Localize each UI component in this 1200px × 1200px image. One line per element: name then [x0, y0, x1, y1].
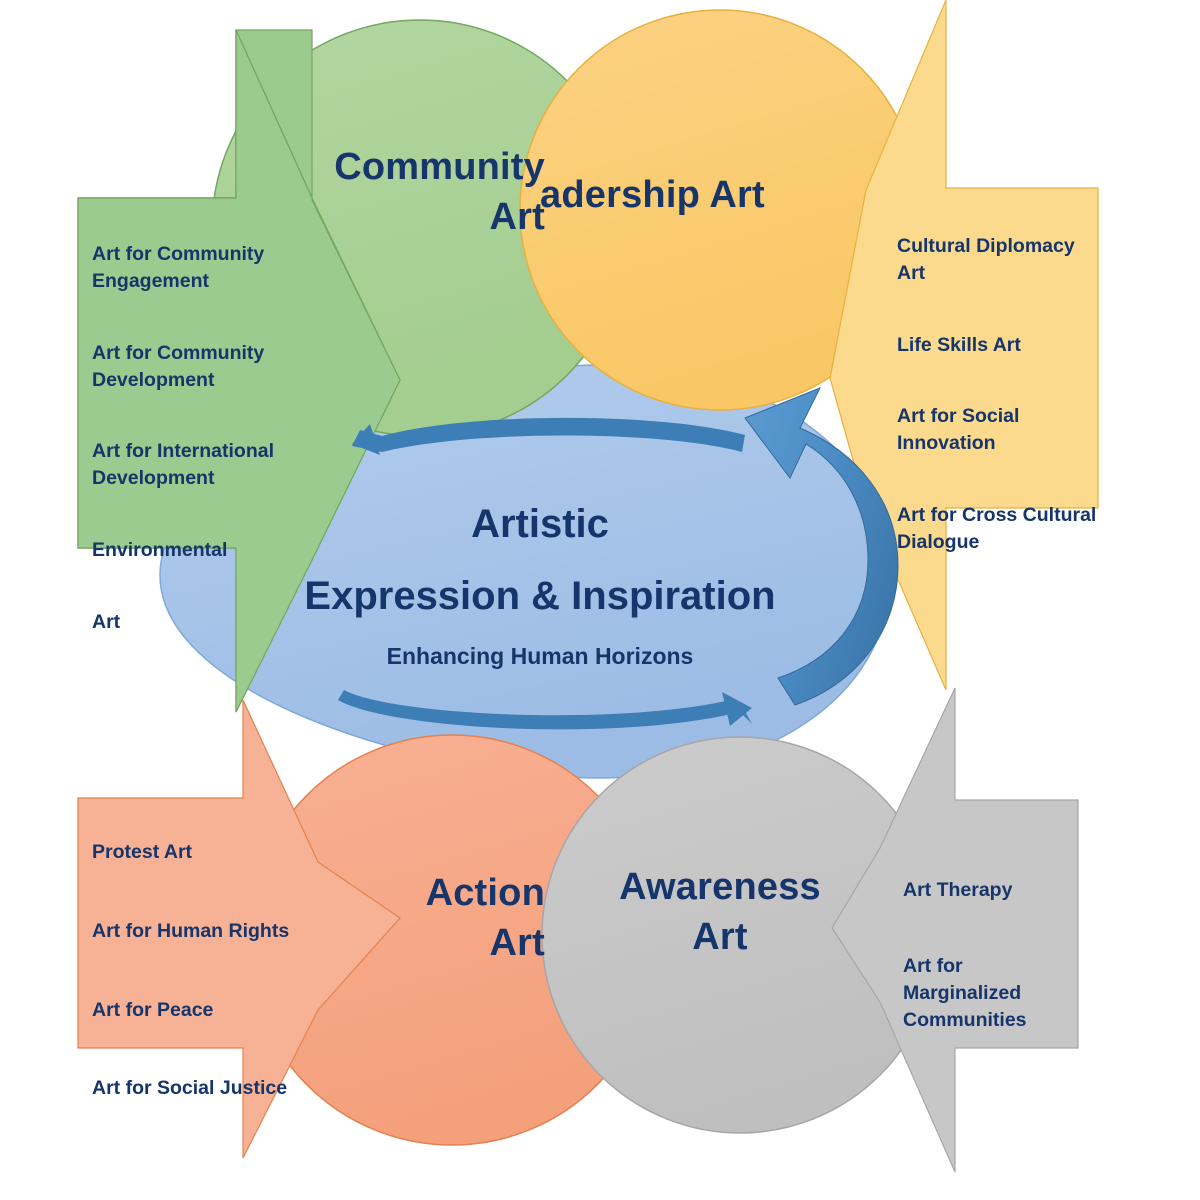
list-item: Art for Community Engagement [92, 241, 307, 295]
list-item: Protest Art [92, 839, 342, 866]
circle-label-action: Action Art [330, 868, 545, 968]
center-title-line-1: Artistic [350, 498, 730, 551]
list-item: Art for Human Rights [92, 918, 342, 945]
center-title-line-2: Expression & Inspiration [240, 570, 840, 623]
callout-list-leadership: Cultural Diplomacy Art Life Skills Art A… [897, 206, 1097, 583]
list-item: Environmental [92, 537, 307, 564]
callout-list-awareness: Art Therapy Art for Marginalized Communi… [903, 850, 1083, 1082]
list-item: Art for Social Justice [92, 1075, 342, 1102]
callout-list-community: Art for Community Engagement Art for Com… [92, 214, 307, 663]
center-subtitle: Enhancing Human Horizons [300, 641, 780, 671]
list-item: Art for Cross Cultural Dialogue [897, 502, 1097, 556]
list-item: Art for Community Development [92, 340, 307, 394]
list-item: Art for Marginalized Communities [903, 953, 1083, 1034]
list-item: Art Therapy [903, 877, 1083, 904]
list-item: Cultural Diplomacy Art [897, 233, 1097, 287]
list-item: Art for Social Innovation [897, 403, 1097, 457]
circle-label-leadership: adership Art [540, 170, 860, 220]
callout-list-action: Protest Art Art for Human Rights Art for… [92, 812, 342, 1154]
list-item: Life Skills Art [897, 332, 1097, 359]
list-item: Art [92, 609, 307, 636]
list-item: Art for International Development [92, 438, 307, 492]
diagram-canvas: Community Art adership Art Action Art Aw… [0, 0, 1200, 1200]
circle-label-awareness: Awareness Art [600, 862, 840, 962]
list-item: Art for Peace [92, 997, 342, 1024]
